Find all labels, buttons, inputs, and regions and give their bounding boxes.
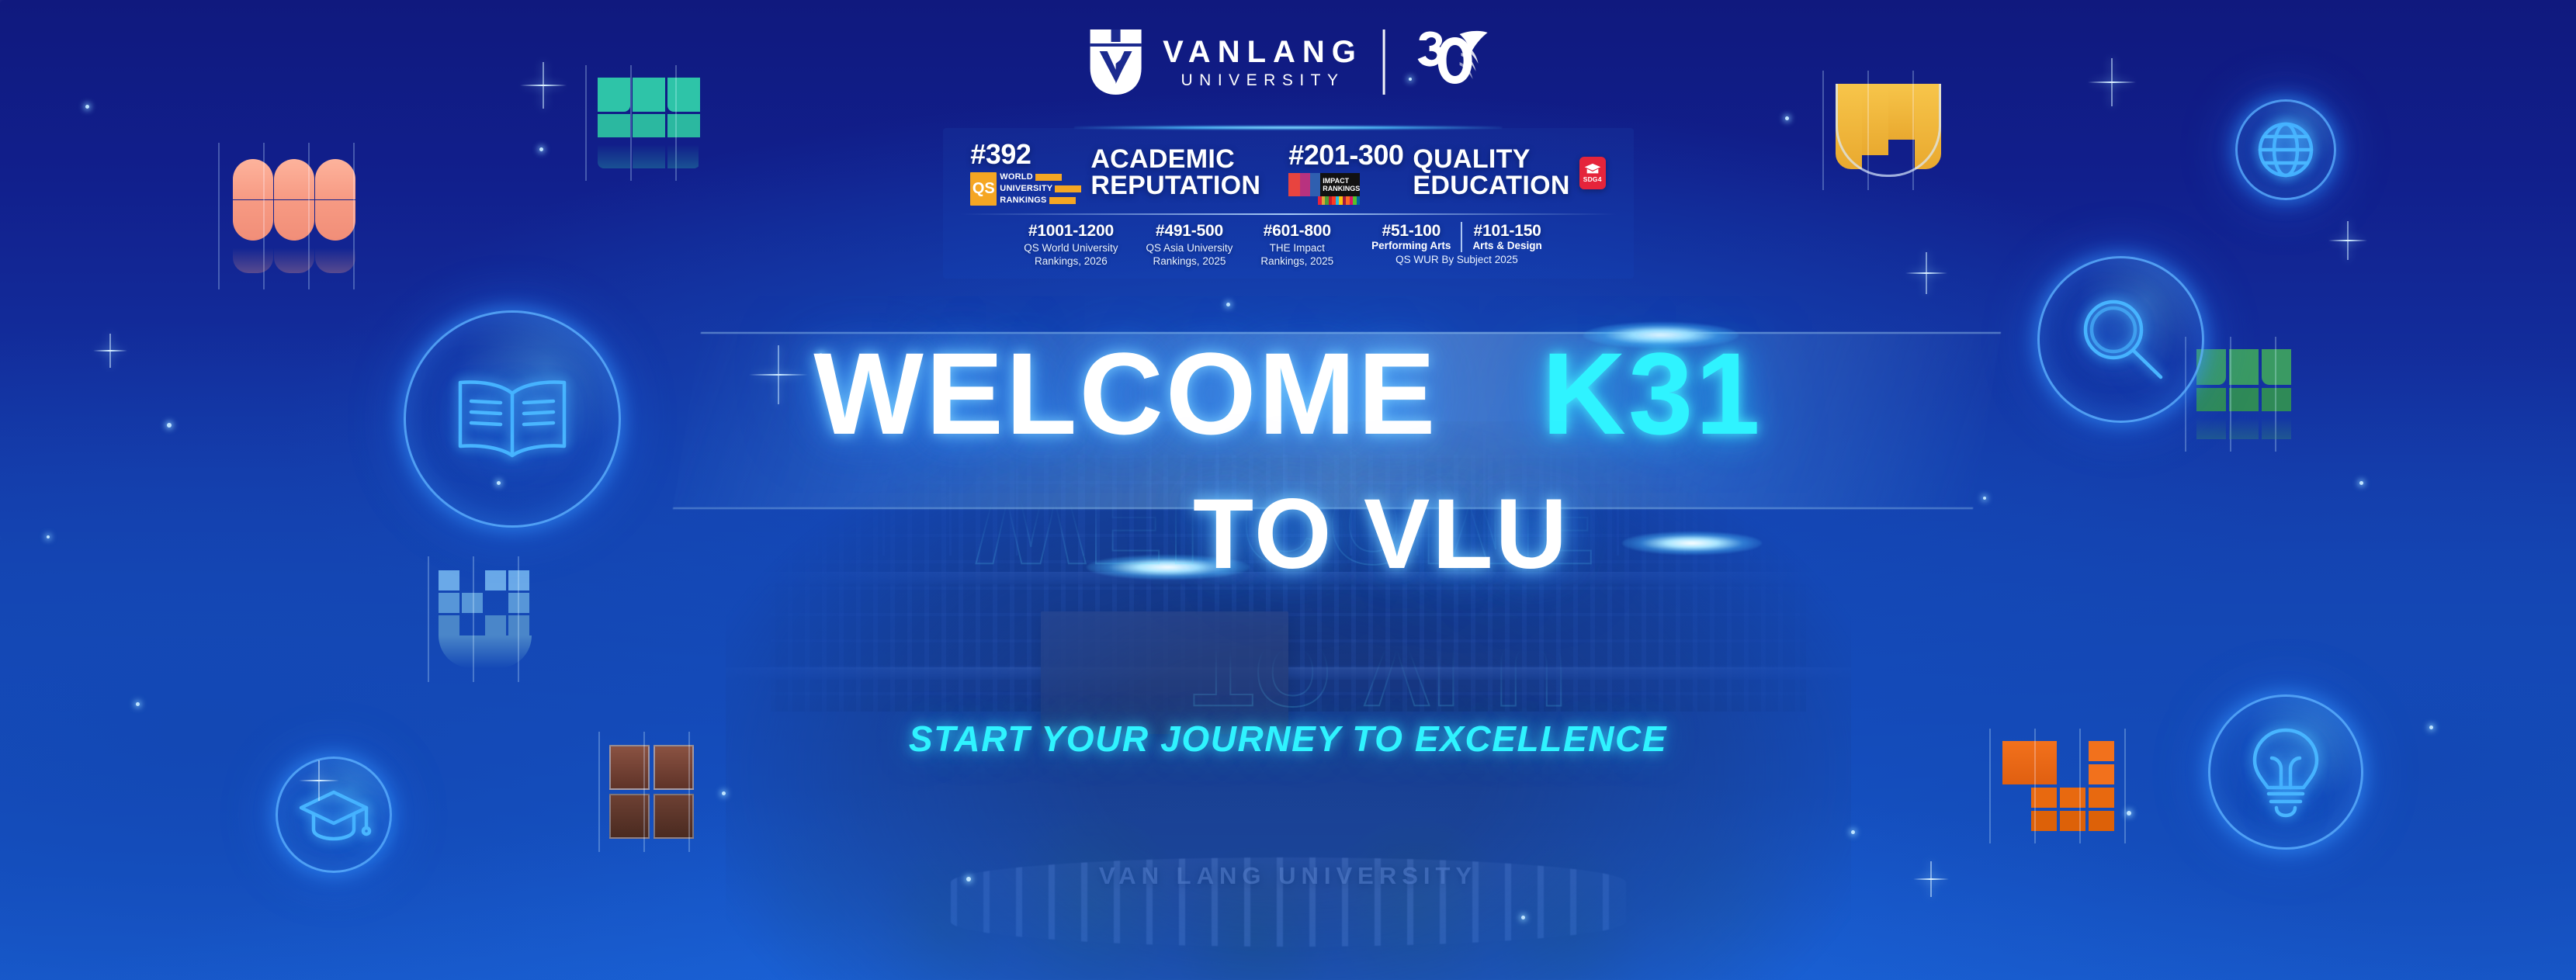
- the-letter-e: [1310, 173, 1320, 196]
- ranking-qs-by-subject: #51-100 Performing Arts #101-150 Arts & …: [1347, 222, 1566, 265]
- sparkle-dot: [1851, 830, 1855, 834]
- sparkle-dot: [819, 353, 823, 357]
- blue-pixels-block: [439, 570, 532, 668]
- brown-panels-block: [609, 745, 702, 839]
- globe-icon: [2235, 99, 2336, 200]
- rank-label-line1: QS Asia University: [1146, 241, 1233, 255]
- sparkle-dot: [722, 791, 726, 795]
- qs-bar: [1049, 197, 1076, 204]
- vlu-shield-icon: [1085, 26, 1146, 98]
- ranking-quality-education: #201-300 IMPACT RANKINGS: [1288, 141, 1605, 205]
- sparkle-star: [520, 62, 567, 109]
- rankings-bottom-row: #1001-1200 QS World University Rankings,…: [943, 222, 1634, 269]
- the-word-impact: IMPACT: [1323, 177, 1360, 185]
- sparkle-dot: [47, 535, 50, 538]
- ranking-arts-design: #101-150 Arts & Design: [1462, 222, 1551, 252]
- rank-label-line2: Rankings, 2025: [1146, 255, 1233, 268]
- ranking-the-impact: #601-800 THE Impact Rankings, 2025: [1246, 222, 1347, 268]
- ranking-title-line2: REPUTATION: [1090, 173, 1260, 199]
- rank-number: #491-500: [1146, 222, 1233, 240]
- ranking-performing-arts: #51-100 Performing Arts: [1361, 222, 1461, 252]
- qs-line-1: WORLD: [1000, 172, 1033, 182]
- sparkle-dot: [2359, 481, 2363, 485]
- sparkle-dot: [1521, 916, 1525, 919]
- teal-squares-block: [598, 78, 699, 168]
- ranking-academic-reputation: #392 QS WORLD UNIVERSITY RANKINGS ACADEM…: [970, 140, 1260, 206]
- campus-photo: VAN LANG UNIVERSITY: [726, 421, 1851, 980]
- rank-number: #392: [970, 140, 1031, 168]
- gold-arch-block: [1836, 84, 1944, 177]
- the-letter-h: [1300, 173, 1310, 196]
- sparkle-star: [299, 760, 339, 801]
- university-name: VANLANG: [1163, 36, 1363, 68]
- the-impact-rankings-logo: IMPACT RANKINGS: [1288, 173, 1360, 205]
- ranking-title-line1: ACADEMIC: [1090, 147, 1260, 173]
- sparkle-dot: [136, 702, 140, 706]
- ranking-qs-asia: #491-500 QS Asia University Rankings, 20…: [1132, 222, 1247, 268]
- rank-source-label: QS WUR By Subject 2025: [1395, 254, 1518, 265]
- 30-years-anniversary-icon: [1406, 26, 1491, 98]
- peach-circles-block: [233, 159, 357, 273]
- open-book-icon: [404, 310, 621, 528]
- sparkle-dot: [1785, 116, 1789, 120]
- sparkle-dot: [1983, 497, 1986, 500]
- vanlang-logo[interactable]: VANLANG UNIVERSITY: [1085, 26, 1363, 98]
- rank-label: Arts & Design: [1472, 240, 1541, 252]
- campus-blue-overlay: [726, 421, 1851, 980]
- sdg4-badge: SDG4: [1579, 157, 1606, 189]
- rank-number: #51-100: [1371, 222, 1451, 240]
- rankings-panel: #392 QS WORLD UNIVERSITY RANKINGS ACADEM…: [943, 128, 1634, 279]
- sparkle-star: [93, 334, 127, 368]
- sparkle-star: [2088, 58, 2136, 106]
- sparkle-star: [1905, 252, 1947, 294]
- sparkle-dot: [2429, 725, 2433, 729]
- sparkle-dot: [85, 105, 89, 109]
- rankings-top-row: #392 QS WORLD UNIVERSITY RANKINGS ACADEM…: [943, 136, 1634, 212]
- sparkle-star: [749, 345, 808, 404]
- qs-line-3: RANKINGS: [1000, 196, 1046, 206]
- rank-number: #601-800: [1260, 222, 1333, 240]
- sparkle-dot: [167, 423, 172, 428]
- banner-stage: VAN LANG UNIVERSITY: [0, 0, 2576, 980]
- sdg-color-strip: [1318, 196, 1360, 205]
- sparkle-dot: [497, 481, 501, 485]
- university-subtitle: UNIVERSITY: [1163, 72, 1363, 88]
- the-letter-t: [1288, 173, 1300, 196]
- rank-label: Performing Arts: [1371, 240, 1451, 252]
- lens-flare: [1583, 322, 1739, 348]
- qs-mark: QS: [970, 172, 997, 206]
- graduation-cap-icon: [1584, 163, 1601, 175]
- brand-divider: [1383, 29, 1385, 95]
- rank-number: #1001-1200: [1024, 222, 1118, 240]
- sparkle-dot: [966, 877, 971, 881]
- rank-label-line2: Rankings, 2025: [1260, 255, 1333, 268]
- qs-world-university-rankings-logo: QS WORLD UNIVERSITY RANKINGS: [970, 172, 1081, 206]
- the-word-rankings: RANKINGS: [1323, 185, 1360, 192]
- rank-number: #201-300: [1288, 141, 1403, 169]
- orange-steps-block: [2002, 741, 2115, 831]
- sparkle-dot: [539, 147, 543, 151]
- ranking-title-line1: QUALITY: [1413, 147, 1569, 173]
- green-stripes-block: [2196, 349, 2293, 439]
- sparkle-dot: [2127, 811, 2131, 816]
- sdg-label: SDG4: [1583, 175, 1602, 183]
- rank-label-line1: THE Impact: [1260, 241, 1333, 255]
- ranking-title-line2: EDUCATION: [1413, 173, 1569, 199]
- header-logo-group: VANLANG UNIVERSITY: [1085, 26, 1491, 98]
- qs-bar: [1035, 174, 1062, 181]
- magnifier-icon: [2037, 256, 2204, 423]
- sparkle-star: [1913, 861, 1949, 897]
- qs-bar: [1055, 185, 1081, 192]
- sparkle-star: [2328, 221, 2367, 260]
- rank-number: #101-150: [1472, 222, 1541, 240]
- rankings-divider: [960, 213, 1617, 215]
- rank-label-line1: QS World University: [1024, 241, 1118, 255]
- rank-label-line2: Rankings, 2026: [1024, 255, 1118, 268]
- lightbulb-icon: [2208, 694, 2363, 850]
- sparkle-dot: [1226, 303, 1230, 306]
- ranking-qs-world: #1001-1200 QS World University Rankings,…: [1010, 222, 1132, 268]
- qs-line-2: UNIVERSITY: [1000, 184, 1052, 194]
